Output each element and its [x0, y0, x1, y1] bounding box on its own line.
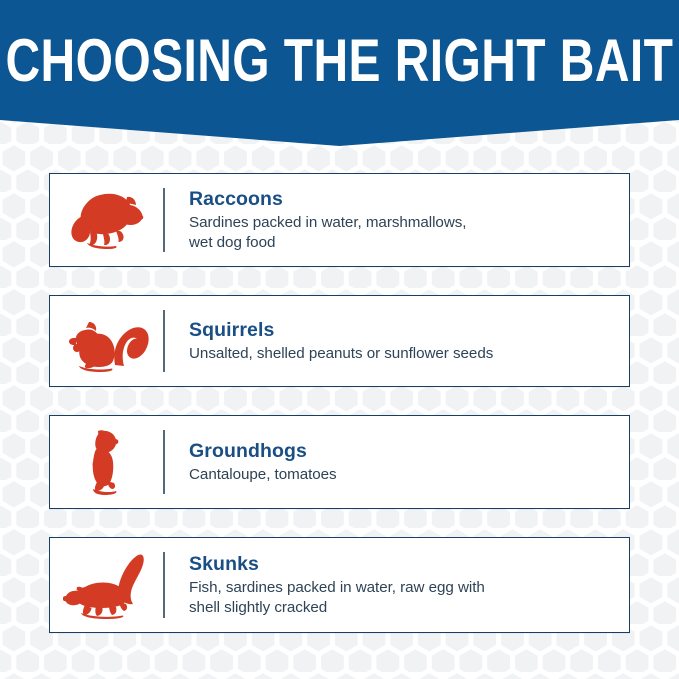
groundhog-icon [50, 416, 163, 508]
raccoon-icon [50, 174, 163, 266]
bait-card-groundhogs[interactable]: Groundhogs Cantaloupe, tomatoes [49, 415, 630, 509]
card-text: Squirrels Unsalted, shelled peanuts or s… [165, 314, 629, 368]
squirrel-icon [50, 296, 163, 386]
card-text: Skunks Fish, sardines packed in water, r… [165, 548, 629, 622]
skunk-icon [50, 538, 163, 632]
card-text: Groundhogs Cantaloupe, tomatoes [165, 435, 629, 489]
bait-card-squirrels[interactable]: Squirrels Unsalted, shelled peanuts or s… [49, 295, 630, 387]
bait-card-skunks[interactable]: Skunks Fish, sardines packed in water, r… [49, 537, 630, 633]
bait-card-raccoons[interactable]: Raccoons Sardines packed in water, marsh… [49, 173, 630, 267]
card-title: Skunks [189, 552, 613, 577]
card-title: Squirrels [189, 318, 613, 343]
header-banner: CHOOSING THE RIGHT BAIT [0, 0, 679, 146]
card-title: Groundhogs [189, 439, 613, 464]
card-description: Cantaloupe, tomatoes [189, 465, 613, 485]
page-title: CHOOSING THE RIGHT BAIT [6, 31, 674, 91]
card-title: Raccoons [189, 187, 613, 212]
card-description: Fish, sardines packed in water, raw egg … [189, 578, 613, 618]
card-text: Raccoons Sardines packed in water, marsh… [165, 183, 629, 257]
card-description: Sardines packed in water, marshmallows, … [189, 213, 613, 253]
card-description: Unsalted, shelled peanuts or sunflower s… [189, 344, 613, 364]
bait-card-list: Raccoons Sardines packed in water, marsh… [49, 173, 630, 633]
